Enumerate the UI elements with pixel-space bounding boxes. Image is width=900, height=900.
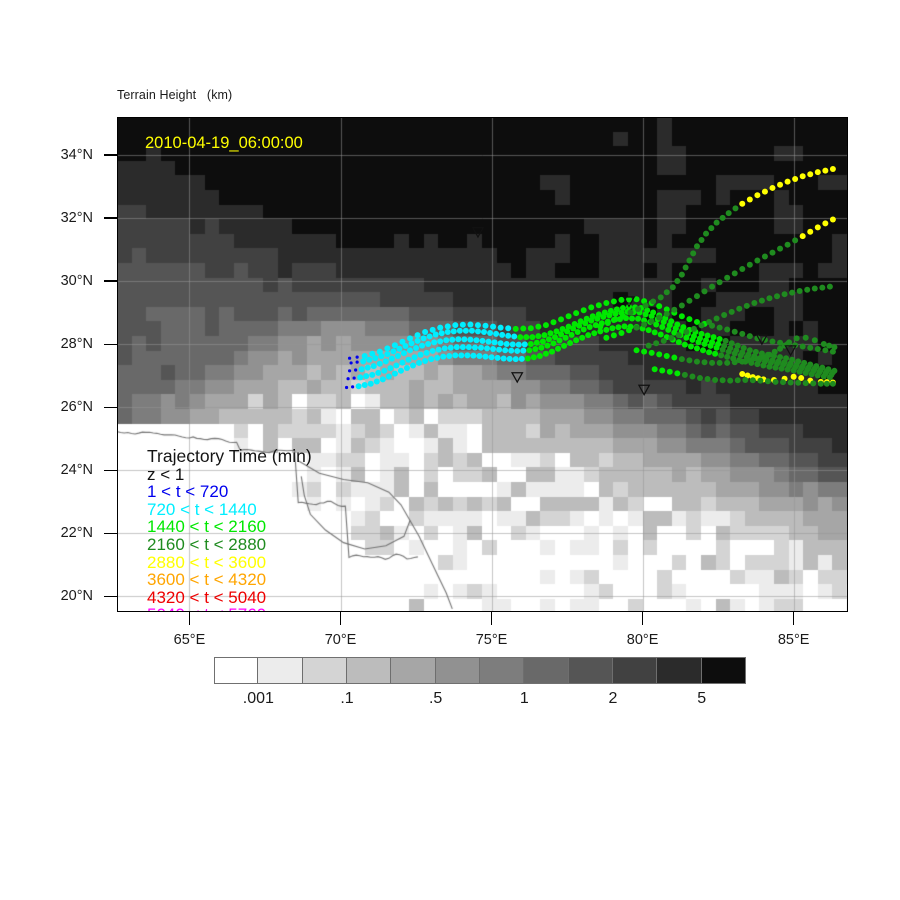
colorbar-cell-5[interactable] — [436, 657, 480, 684]
y-tick-label-3: 26°N — [0, 399, 93, 415]
station-marker-2 — [512, 373, 522, 382]
y-tick-label-6: 32°N — [0, 210, 93, 226]
y-tick-mark-2 — [104, 470, 117, 471]
colorbar-label-3: 1 — [520, 690, 529, 708]
colorbar-label-4: 2 — [609, 690, 618, 708]
colorbar-cell-1[interactable] — [258, 657, 302, 684]
colorbar-cell-10[interactable] — [657, 657, 701, 684]
colorbar-cell-11[interactable] — [702, 657, 746, 684]
y-tick-mark-5 — [104, 280, 117, 281]
colorbar-cell-3[interactable] — [347, 657, 391, 684]
map-plot-area[interactable]: 2010-04-19_06:00:00 Trajectory Time (min… — [117, 117, 848, 612]
x-tick-label-4: 85°E — [778, 632, 810, 648]
colorbar-label-0: .001 — [243, 690, 274, 708]
traj-g-ne1 — [597, 166, 836, 330]
colorbar-cell-4[interactable] — [391, 657, 435, 684]
terrain-colorbar[interactable] — [214, 657, 746, 684]
x-tick-label-2: 75°E — [476, 632, 508, 648]
colorbar-label-5: 5 — [697, 690, 706, 708]
figure-canvas: Terrain Height (km) 2010-04-19_06:00:00 … — [0, 0, 900, 900]
x-tick-mark-0 — [189, 612, 190, 625]
colorbar-cell-7[interactable] — [524, 657, 568, 684]
x-tick-label-1: 70°E — [325, 632, 357, 648]
legend-entry-7: 4320 < t < 5040 — [147, 589, 312, 607]
legend-entry-1: 1 < t < 720 — [147, 483, 312, 501]
y-tick-label-5: 30°N — [0, 273, 93, 289]
legend-entry-2: 720 < t < 1440 — [147, 501, 312, 519]
colorbar-cell-6[interactable] — [480, 657, 524, 684]
traj-g-ne2 — [603, 216, 836, 340]
x-tick-mark-4 — [793, 612, 794, 625]
y-tick-label-4: 28°N — [0, 336, 93, 352]
colorbar-label-2: .5 — [429, 690, 442, 708]
colorbar-cell-9[interactable] — [613, 657, 657, 684]
trajectory-time-legend: Trajectory Time (min)z < 11 < t < 720720… — [147, 448, 312, 612]
legend-entry-3: 1440 < t < 2160 — [147, 518, 312, 536]
x-tick-mark-2 — [491, 612, 492, 625]
station-marker-0 — [473, 228, 483, 237]
y-tick-mark-0 — [104, 596, 117, 597]
x-tick-label-3: 80°E — [627, 632, 659, 648]
colorbar-cell-2[interactable] — [303, 657, 347, 684]
traj-c3 — [346, 315, 834, 380]
x-tick-label-0: 65°E — [174, 632, 206, 648]
y-tick-label-0: 20°N — [0, 588, 93, 604]
station-marker-3 — [639, 385, 649, 394]
timestamp-label: 2010-04-19_06:00:00 — [145, 134, 303, 153]
legend-entry-6: 3600 < t < 4320 — [147, 571, 312, 589]
y-tick-mark-7 — [104, 154, 117, 155]
y-tick-mark-4 — [104, 344, 117, 345]
legend-title: Trajectory Time (min) — [147, 448, 312, 466]
colorbar-cell-0[interactable] — [214, 657, 258, 684]
legend-entry-5: 2880 < t < 3600 — [147, 554, 312, 572]
legend-entry-8: 5040 < t < 5760 — [147, 606, 312, 612]
x-tick-mark-3 — [642, 612, 643, 625]
y-tick-label-1: 22°N — [0, 525, 93, 541]
page-title: Terrain Height (km) — [117, 88, 232, 102]
legend-entry-0: z < 1 — [147, 466, 312, 484]
x-tick-mark-1 — [340, 612, 341, 625]
y-tick-mark-6 — [104, 217, 117, 218]
legend-entry-4: 2160 < t < 2880 — [147, 536, 312, 554]
y-tick-mark-1 — [104, 533, 117, 534]
y-tick-label-7: 34°N — [0, 147, 93, 163]
colorbar-label-1: .1 — [340, 690, 353, 708]
y-tick-mark-3 — [104, 407, 117, 408]
y-tick-label-2: 24°N — [0, 462, 93, 478]
colorbar-cell-8[interactable] — [569, 657, 613, 684]
